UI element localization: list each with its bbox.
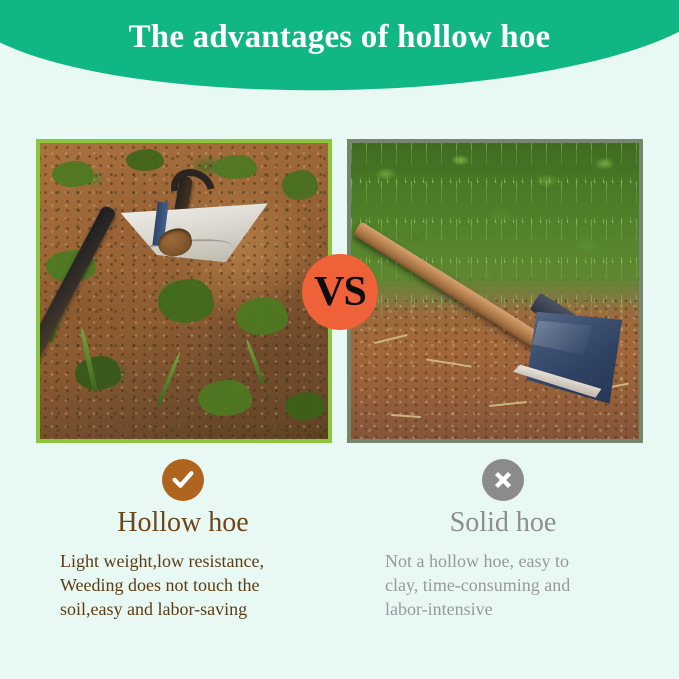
header-banner: The advantages of hollow hoe — [0, 0, 679, 95]
weed-clump — [126, 149, 164, 171]
close-icon — [482, 459, 524, 501]
weed-clump — [282, 170, 318, 200]
vs-badge: VS — [302, 254, 378, 330]
weed-clump — [158, 279, 214, 323]
solid-hoe-photo-frame — [347, 139, 643, 443]
hollow-hoe-description: Light weight,low resistance, Weeding doe… — [60, 549, 350, 621]
weed-clump — [75, 356, 121, 390]
solid-hoe-photo — [351, 143, 639, 439]
weed-clump — [52, 161, 94, 187]
vs-badge-label: VS — [314, 271, 366, 313]
hollow-hoe-photo — [40, 143, 328, 439]
solid-hoe-description: Not a hollow hoe, easy to clay, time-con… — [385, 549, 675, 621]
page-title: The advantages of hollow hoe — [0, 18, 679, 56]
weed-clump — [236, 297, 288, 335]
weed-clump — [285, 392, 325, 420]
solid-hoe-heading: Solid hoe — [343, 506, 663, 540]
hollow-hoe-photo-frame — [36, 139, 332, 443]
check-icon — [162, 459, 204, 501]
hollow-hoe-heading: Hollow hoe — [23, 506, 343, 540]
weed-clump — [198, 380, 252, 416]
weed-clump — [213, 155, 257, 179]
